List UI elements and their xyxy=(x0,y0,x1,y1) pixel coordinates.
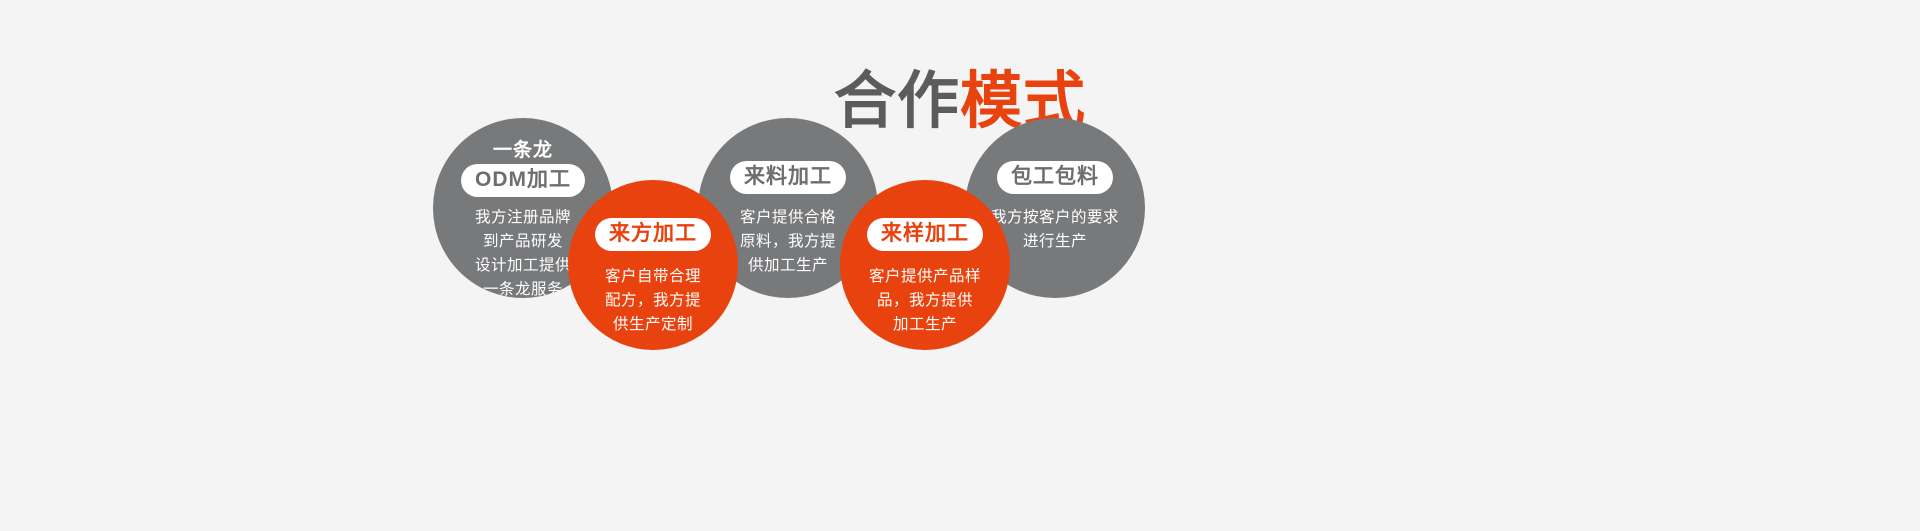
mode-description: 客户提供合格 原料，我方提 供加工生产 xyxy=(740,206,836,278)
mode-badge: 来料加工 xyxy=(730,161,846,194)
mode-description: 客户自带合理 配方，我方提 供生产定制 xyxy=(605,265,701,337)
mode-description: 客户提供产品样 品，我方提供 加工生产 xyxy=(869,265,981,337)
mode-description: 我方注册品牌 到产品研发 设计加工提供 一条龙服务 xyxy=(475,206,571,302)
mode-eyebrow: 一条龙 xyxy=(493,140,553,162)
mode-badge: 包工包料 xyxy=(997,161,1113,194)
mode-badge: ODM加工 xyxy=(461,164,585,197)
mode-badge: 来方加工 xyxy=(595,218,711,251)
page-title-main: 合作 xyxy=(834,68,960,136)
mode-description: 我方按客户的要求 进行生产 xyxy=(991,206,1119,254)
mode-circle-laifang[interactable]: 来方加工 客户自带合理 配方，我方提 供生产定制 xyxy=(568,180,738,350)
mode-circle-laiyang[interactable]: 来样加工 客户提供产品样 品，我方提供 加工生产 xyxy=(840,180,1010,350)
mode-badge: 来样加工 xyxy=(867,218,983,251)
cooperation-mode-banner: 合作模式 一条龙 ODM加工 我方注册品牌 到产品研发 设计加工提供 一条龙服务… xyxy=(0,0,1920,531)
page-title: 合作模式 xyxy=(0,64,1920,140)
